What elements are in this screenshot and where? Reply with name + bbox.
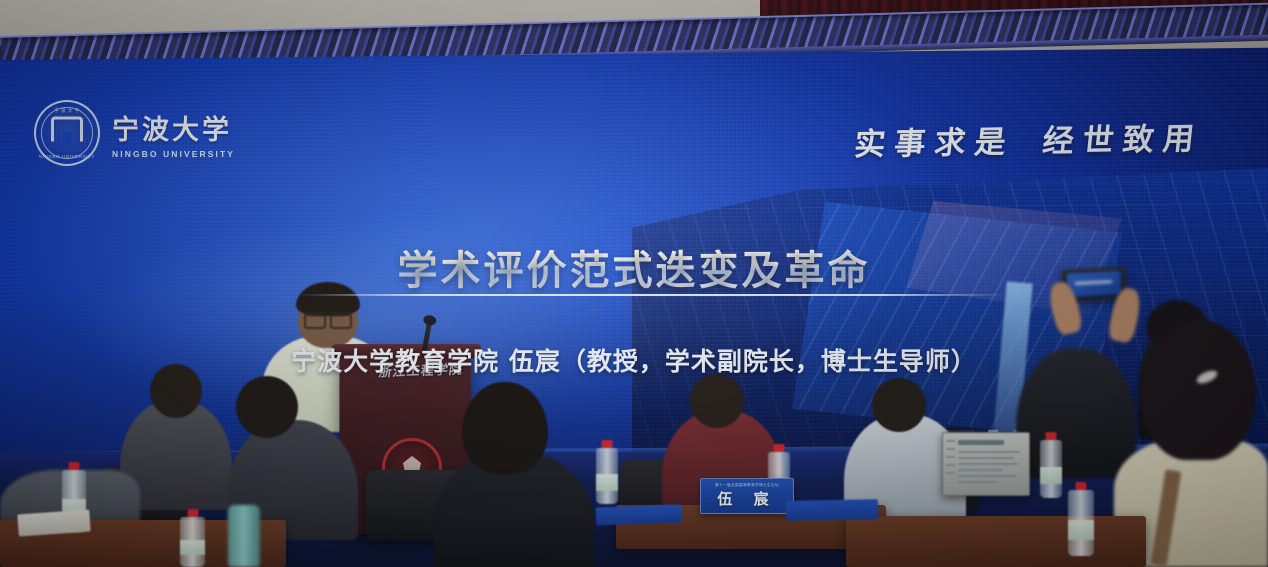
university-seal-icon: 宁 波 大 学 NINGBO UNIVERSITY bbox=[34, 100, 100, 166]
bottle-label bbox=[180, 540, 205, 555]
bottle-label bbox=[1068, 520, 1094, 540]
placard-name-text: 伍 宸 bbox=[717, 488, 776, 509]
title-divider-rule bbox=[298, 294, 1006, 296]
university-logo: 宁 波 大 学 NINGBO UNIVERSITY 宁波大学 NINGBO UN… bbox=[34, 100, 235, 166]
audience-member-head bbox=[690, 374, 744, 428]
seal-bottom-text: NINGBO UNIVERSITY bbox=[36, 154, 98, 159]
laptop-doc-sidebar bbox=[946, 440, 955, 488]
laptop[interactable] bbox=[942, 432, 1030, 496]
university-motto: 实事求是经世致用 bbox=[852, 113, 1205, 164]
slide-subtitle: 宁波大学教育学院 伍宸（教授，学术副院长，博士生导师） bbox=[0, 342, 1268, 378]
name-placard: 第十一届全国高等教育学博士生论坛 伍 宸 bbox=[700, 478, 794, 514]
laptop-document-content bbox=[958, 440, 1022, 488]
university-name-cn: 宁波大学 bbox=[112, 108, 235, 147]
travel-tumbler[interactable] bbox=[228, 505, 260, 567]
placard-header-text: 第十一届全国高等教育学博士生论坛 bbox=[715, 483, 779, 488]
speaker-glasses-icon bbox=[304, 312, 352, 325]
audience-member-head bbox=[462, 382, 548, 474]
seal-gate-glyph bbox=[51, 117, 83, 142]
bottle-cap bbox=[187, 509, 198, 517]
desk bbox=[846, 516, 1146, 567]
bottle-cap bbox=[1076, 482, 1087, 490]
slide-title: 学术评价范式迭变及革命 bbox=[0, 238, 1268, 296]
water-bottle[interactable] bbox=[180, 517, 205, 567]
bottle-cap bbox=[1046, 432, 1057, 440]
foreground-person-hair bbox=[1140, 320, 1256, 460]
water-bottle[interactable] bbox=[1068, 490, 1094, 556]
bottle-cap bbox=[774, 444, 785, 452]
lecture-hall-photo: NU 宁 波 大 学 NINGBO UNIVERSITY 宁波大学 NINGBO… bbox=[0, 0, 1268, 567]
bottle-label bbox=[596, 474, 618, 491]
bottle-cap bbox=[69, 462, 80, 470]
water-bottle[interactable] bbox=[596, 448, 618, 504]
conference-folder bbox=[596, 505, 683, 526]
conference-folder bbox=[786, 499, 878, 521]
bottle-cap bbox=[602, 440, 613, 448]
water-bottle[interactable] bbox=[1040, 440, 1062, 498]
bottle-label bbox=[1040, 467, 1062, 484]
motto-part-1: 实事求是 bbox=[852, 124, 1016, 163]
university-name-en: NINGBO UNIVERSITY bbox=[112, 149, 235, 159]
audience-member-head bbox=[872, 378, 926, 432]
seal-top-text: 宁 波 大 学 bbox=[36, 108, 98, 114]
audience-member-head bbox=[236, 376, 298, 438]
motto-part-2: 经世致用 bbox=[1041, 121, 1205, 160]
